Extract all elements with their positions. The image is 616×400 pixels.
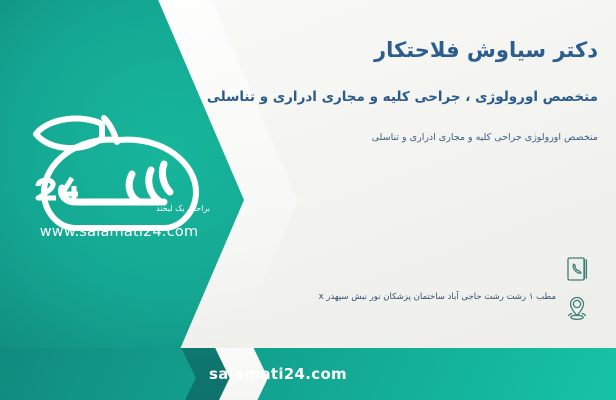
- clinic-address: مطب ۱ رشت رشت حاجی آباد ساختمان پزشکان ن…: [256, 292, 556, 304]
- logo-url: www.salamati24.com: [14, 224, 224, 240]
- logo-tagline: براحتی یک لبخند: [14, 204, 210, 213]
- doctor-name: دکتر سیاوش فلاحتکار: [178, 38, 598, 62]
- footer-bar: salamati24.com: [0, 348, 616, 400]
- location-pin-icon[interactable]: [562, 293, 592, 323]
- doctor-description: متخصص اورولوژی جراحی کلیه و مجاری ادراری…: [178, 130, 598, 146]
- business-card: براحتی یک لبخند www.salamati24.com دکتر …: [0, 0, 616, 400]
- phone-book-icon[interactable]: [562, 254, 592, 284]
- footer-website[interactable]: salamati24.com: [0, 365, 616, 383]
- doctor-specialty: متخصص اورولوژی ، جراحی کلیه و مجاری ادرا…: [178, 88, 598, 108]
